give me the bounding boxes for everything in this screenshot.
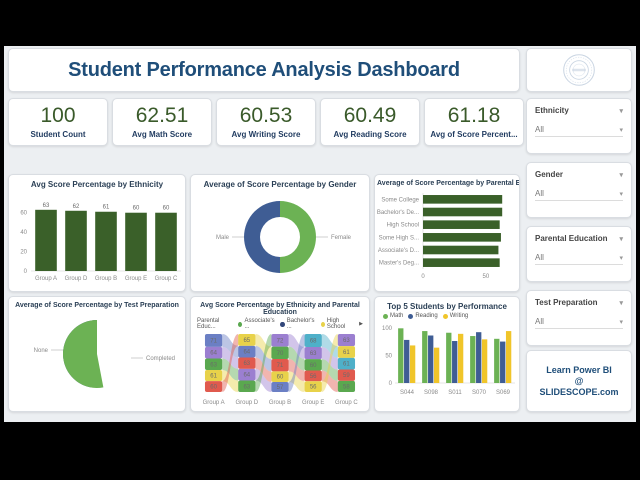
category-label: Some High S... (379, 235, 420, 241)
kpi-label: Avg Writing Score (232, 130, 301, 139)
ribbon-data-label: 61 (343, 350, 350, 356)
visual-title: Avg Score Percentage by Ethnicity (9, 175, 185, 189)
test-preparation-pie-plot[interactable]: NoneCompleted (9, 309, 185, 407)
top5-plot[interactable]: 050100S044S098S011S070S069 (375, 319, 519, 403)
slicer-value: All (535, 189, 544, 198)
bar-reading (500, 342, 505, 383)
slicer-dropdown[interactable]: All ▾ (535, 317, 623, 329)
axis-tick-label: 50 (483, 274, 490, 280)
bar-reading (404, 340, 409, 383)
bar (423, 258, 500, 267)
category-label: Group D (65, 276, 88, 282)
bar (423, 233, 501, 242)
slice-label-female: Female (331, 235, 352, 241)
visual-gender-donut[interactable]: Average of Score Percentage by Gender Ma… (190, 174, 370, 292)
letterbox-left (0, 0, 4, 480)
chevron-down-icon[interactable]: ▾ (619, 107, 623, 115)
legend-swatch (443, 314, 448, 319)
bar-writing (458, 334, 463, 383)
ribbon-data-label: 56 (310, 374, 317, 380)
visual-ethnicity-bar[interactable]: Avg Score Percentage by Ethnicity 020406… (8, 174, 186, 292)
slicer-ethnicity[interactable]: Ethnicity ▾ All ▾ (526, 98, 632, 154)
slicer-test-preparation[interactable]: Test Preparation ▾ All ▾ (526, 290, 632, 346)
bar (125, 213, 147, 271)
legend-item-bachelors[interactable]: Bachelor's ... (280, 318, 315, 330)
ribbon-data-label: 63 (210, 362, 217, 368)
legend-title: Parental Educ... (197, 318, 233, 330)
bar-data-label: 60 (133, 206, 140, 212)
category-label: Group D (235, 400, 258, 406)
slicer-value: All (535, 253, 544, 262)
ribbon-legend: Parental Educ... Associate's ... Bachelo… (191, 316, 369, 330)
ribbon-data-label: 59 (343, 373, 350, 379)
kpi-value: 60.53 (240, 105, 293, 127)
brand-card[interactable]: Learn Power BI @ SLIDESCOPE.com (526, 350, 632, 412)
bar-math (422, 331, 427, 383)
kpi-value: 62.51 (136, 105, 189, 127)
kpi-card-student-count[interactable]: 100 Student Count (8, 98, 108, 146)
bar-writing (506, 331, 511, 383)
bar (423, 220, 500, 229)
kpi-value: 60.49 (344, 105, 397, 127)
slice-label-none: None (34, 348, 49, 354)
category-label: Group A (35, 276, 57, 282)
category-label: High School (387, 223, 419, 229)
donut-slice-male (244, 201, 280, 273)
legend-swatch (238, 322, 242, 327)
slicer-header: Ethnicity ▾ (535, 106, 623, 115)
chevron-down-icon[interactable]: ▾ (619, 171, 623, 179)
circular-seal-logo-icon (562, 53, 596, 87)
brand-line-1: Learn Power BI (546, 365, 612, 375)
kpi-card-avg-math[interactable]: 62.51 Avg Math Score (112, 98, 212, 146)
bar-math (470, 336, 475, 383)
ribbon-data-label: 64 (243, 373, 250, 379)
brand-line-3: SLIDESCOPE.com (539, 387, 618, 397)
ribbon-data-label: 64 (243, 350, 250, 356)
slice-label-completed: Completed (146, 356, 175, 362)
legend-item-highschool[interactable]: High School (321, 318, 354, 330)
bar-writing (410, 345, 415, 383)
slicer-dropdown[interactable]: All ▾ (535, 253, 623, 265)
axis-tick-label: 60 (20, 211, 27, 217)
screen-root: Student Performance Analysis Dashboard 1… (0, 0, 640, 480)
ribbon-data-label: 60 (277, 375, 284, 381)
ribbon-data-label: 68 (310, 339, 317, 345)
chevron-down-icon[interactable]: ▾ (619, 126, 623, 134)
legend-swatch (383, 314, 388, 319)
axis-tick-label: 0 (421, 274, 425, 280)
bar (155, 213, 177, 271)
bar (95, 212, 117, 271)
ribbon-data-label: 56 (310, 385, 317, 391)
slicer-parental-education[interactable]: Parental Education ▾ All ▾ (526, 226, 632, 282)
visual-title: Top 5 Students by Performance (375, 297, 519, 311)
legend-label: Bachelor's ... (287, 318, 316, 330)
slicer-dropdown[interactable]: All ▾ (535, 125, 623, 137)
bar-reading (452, 341, 457, 383)
ribbon-data-label: 70 (277, 351, 284, 357)
legend-swatch (280, 322, 284, 327)
bar-reading (428, 335, 433, 383)
chevron-down-icon[interactable]: ▾ (619, 254, 623, 262)
bar-math (446, 333, 451, 383)
category-label: S011 (448, 390, 462, 396)
bar (423, 246, 498, 255)
axis-tick-label: 0 (24, 269, 28, 275)
letterbox-top (0, 0, 640, 46)
ribbon-data-label: 61 (343, 362, 350, 368)
slicer-header: Parental Education ▾ (535, 234, 623, 243)
category-label: Group E (125, 276, 147, 282)
ribbon-data-label: 72 (277, 338, 284, 344)
chevron-down-icon[interactable]: ▾ (619, 299, 623, 307)
ribbon-data-label: 64 (210, 351, 217, 357)
brand-line-2: @ (575, 376, 584, 386)
category-label: Group C (155, 276, 178, 282)
chevron-down-icon[interactable]: ▾ (619, 235, 623, 243)
bar-data-label: 61 (103, 205, 110, 211)
visual-ethnicity-parental-ribbon[interactable]: Avg Score Percentage by Ethnicity and Pa… (190, 296, 370, 412)
category-label: S098 (424, 390, 439, 396)
kpi-card-avg-score-pct[interactable]: 61.18 Avg of Score Percent... (424, 98, 524, 146)
visual-title: Avg Score Percentage by Ethnicity and Pa… (191, 297, 369, 316)
bar (423, 208, 502, 217)
kpi-card-avg-writing[interactable]: 60.53 Avg Writing Score (216, 98, 316, 146)
kpi-value: 100 (40, 105, 75, 127)
kpi-value: 61.18 (448, 105, 501, 127)
visual-title: Average of Score Percentage by Parental … (375, 175, 519, 187)
ribbon-data-label: 58 (343, 384, 350, 390)
bar-data-label: 60 (163, 206, 170, 212)
visual-title: Average of Score Percentage by Gender (191, 175, 369, 189)
category-label: Some College (381, 197, 419, 203)
legend-more-arrow[interactable]: ▶ (359, 321, 363, 327)
bar-reading (476, 332, 481, 383)
ribbon-data-label: 63 (310, 351, 317, 357)
legend-swatch (408, 314, 413, 319)
category-label: Group E (302, 400, 324, 406)
slicer-title: Test Preparation (535, 298, 598, 307)
bar (423, 195, 502, 204)
kpi-label: Avg Reading Score (333, 130, 406, 139)
slicer-value: All (535, 125, 544, 134)
category-label: Bachelor's De... (377, 210, 419, 216)
slicer-header: Gender ▾ (535, 170, 623, 179)
slice-label-male: Male (216, 235, 230, 241)
bar (65, 211, 87, 271)
legend-item-associates[interactable]: Associate's ... (238, 318, 275, 330)
donut-slice-female (280, 201, 316, 273)
visual-top5-students[interactable]: Top 5 Students by Performance Math Readi… (374, 296, 520, 412)
letterbox-right (636, 0, 640, 480)
ribbon-data-label: 71 (277, 363, 284, 369)
bar-writing (434, 348, 439, 383)
category-label: Group C (335, 400, 358, 406)
axis-tick-label: 20 (20, 250, 27, 256)
top5-legend: Math Reading Writing (375, 311, 519, 319)
report-canvas: Student Performance Analysis Dashboard 1… (4, 44, 636, 424)
bar-data-label: 63 (43, 203, 50, 209)
ribbon-data-label: 61 (210, 374, 217, 380)
ribbon-data-label: 63 (343, 338, 350, 344)
kpi-label: Student Count (30, 130, 85, 139)
ribbon-data-label: 60 (210, 385, 217, 391)
axis-tick-label: 50 (385, 353, 392, 359)
bar-math (398, 328, 403, 383)
slicer-value: All (535, 317, 544, 326)
category-label: Group B (95, 276, 117, 282)
visual-test-preparation-pie[interactable]: Average of Score Percentage by Test Prep… (8, 296, 186, 412)
category-label: Group B (269, 400, 291, 406)
kpi-label: Avg Math Score (132, 130, 192, 139)
category-label: Master's Deg... (379, 261, 419, 267)
category-label: Group A (203, 400, 225, 406)
ribbon-data-label: 57 (277, 385, 284, 391)
bar-math (494, 339, 499, 383)
ribbon-data-label: 63 (243, 384, 250, 390)
slicer-title: Ethnicity (535, 106, 569, 115)
axis-tick-label: 40 (20, 230, 27, 236)
chevron-down-icon[interactable]: ▾ (619, 190, 623, 198)
category-label: S069 (496, 390, 511, 396)
visual-parental-education-bar[interactable]: Average of Score Percentage by Parental … (374, 174, 520, 292)
ethnicity-bar-plot[interactable]: 020406063Group A62Group D61Group B60Grou… (9, 189, 185, 289)
bar (35, 210, 57, 271)
legend-label: High School (327, 318, 354, 330)
chevron-down-icon[interactable]: ▾ (619, 318, 623, 326)
kpi-card-avg-reading[interactable]: 60.49 Avg Reading Score (320, 98, 420, 146)
slicer-title: Gender (535, 170, 563, 179)
category-label: S070 (472, 390, 487, 396)
slicer-gender[interactable]: Gender ▾ All ▾ (526, 162, 632, 218)
bar-writing (482, 339, 487, 383)
slicer-header: Test Preparation ▾ (535, 298, 623, 307)
gender-donut-plot[interactable]: MaleFemale (191, 189, 369, 289)
axis-tick-label: 0 (389, 381, 393, 387)
ribbon-data-label: 65 (243, 338, 250, 344)
ribbon-data-label: 71 (210, 338, 217, 344)
ribbon-plot[interactable]: 7164636160Group A6564636463Group D727071… (191, 330, 369, 410)
category-label: S044 (400, 390, 415, 396)
kpi-label: Avg of Score Percent... (430, 130, 517, 139)
axis-tick-label: 100 (382, 326, 393, 332)
slicer-dropdown[interactable]: All ▾ (535, 189, 623, 201)
bar-data-label: 62 (73, 204, 80, 210)
pie-slice-completed (63, 320, 103, 388)
logo-card (526, 48, 632, 92)
parental-education-bar-plot[interactable]: Some CollegeBachelor's De...High SchoolS… (375, 187, 519, 287)
ribbon-data-label: 63 (243, 361, 250, 367)
page-title: Student Performance Analysis Dashboard (68, 59, 460, 82)
ribbon-data-label: 60 (310, 363, 317, 369)
legend-swatch (321, 322, 325, 327)
dashboard-title-card: Student Performance Analysis Dashboard (8, 48, 520, 92)
slicer-title: Parental Education (535, 234, 607, 243)
visual-title: Average of Score Percentage by Test Prep… (9, 297, 185, 309)
category-label: Associate's D... (378, 248, 419, 254)
letterbox-bottom (0, 422, 640, 480)
legend-label: Associate's ... (244, 318, 275, 330)
